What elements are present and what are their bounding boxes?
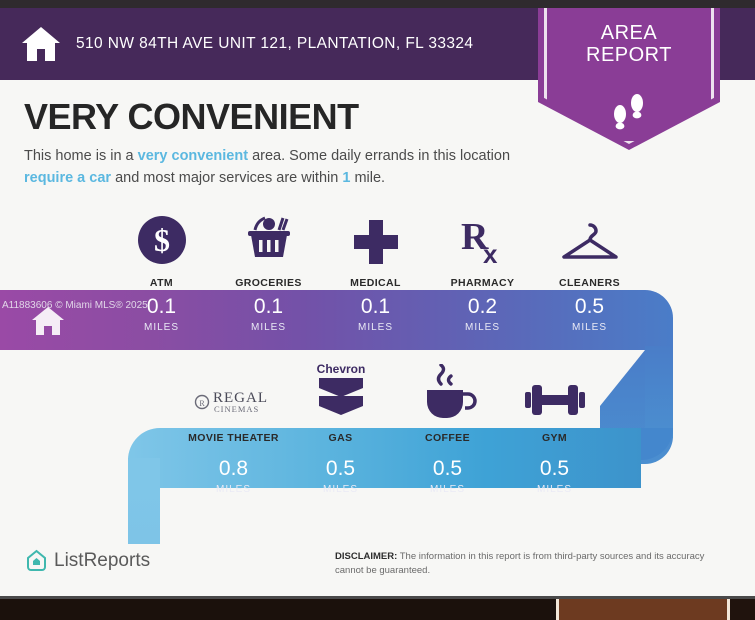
amenity-cleaners: CLEANERS bbox=[536, 205, 643, 289]
distance-unit: MILES bbox=[108, 322, 215, 333]
amenity-movie-theater: R REGAL CINEMAS MOVIE THEATER bbox=[180, 360, 287, 444]
area-report-page: 510 NW 84TH AVE UNIT 121, PLANTATION, FL… bbox=[0, 0, 755, 620]
distance-unit: MILES bbox=[501, 484, 608, 495]
amenity-row-primary: $ ATM bbox=[108, 205, 643, 289]
property-address: 510 NW 84TH AVE UNIT 121, PLANTATION, FL… bbox=[76, 35, 473, 53]
listreports-wordmark: ListReports bbox=[54, 550, 150, 572]
distance-value: 0.2 bbox=[429, 296, 536, 317]
bottom-photo-strip bbox=[0, 596, 755, 620]
distance-unit: MILES bbox=[536, 322, 643, 333]
distance-gym: 0.5 MILES bbox=[501, 458, 608, 495]
distance-coffee: 0.5 MILES bbox=[394, 458, 501, 495]
footer: ListReports DISCLAIMER: The information … bbox=[0, 545, 755, 595]
amenity-label: COFFEE bbox=[394, 432, 501, 444]
amenity-label: MEDICAL bbox=[322, 277, 429, 289]
area-report-badge: AREA REPORT bbox=[538, 0, 720, 150]
distance-value: 0.1 bbox=[215, 296, 322, 317]
distance-movie-theater: 0.8 MILES bbox=[180, 458, 287, 495]
page-title: VERY CONVENIENT bbox=[24, 96, 359, 138]
amenity-label: MOVIE THEATER bbox=[180, 432, 287, 444]
distance-value: 0.5 bbox=[287, 458, 394, 479]
disclaimer-label: DISCLAIMER: bbox=[335, 551, 397, 562]
page-description: This home is in a very convenient area. … bbox=[24, 146, 544, 190]
grocery-basket-icon bbox=[215, 205, 322, 267]
amenity-label: GAS bbox=[287, 432, 394, 444]
distance-unit: MILES bbox=[180, 484, 287, 495]
amenity-label: ATM bbox=[108, 277, 215, 289]
distance-unit: MILES bbox=[394, 484, 501, 495]
distance-groceries: 0.1 MILES bbox=[215, 296, 322, 333]
house-icon bbox=[20, 25, 62, 63]
footprints-icon bbox=[538, 92, 720, 137]
svg-text:R: R bbox=[199, 399, 205, 408]
rx-icon: R x bbox=[429, 205, 536, 267]
svg-text:$: $ bbox=[154, 222, 170, 258]
svg-text:Chevron: Chevron bbox=[316, 362, 365, 376]
amenity-label: CLEANERS bbox=[536, 277, 643, 289]
regal-cinemas-logo-icon: R REGAL CINEMAS bbox=[180, 360, 287, 422]
clothes-hanger-icon bbox=[536, 205, 643, 267]
coffee-cup-icon bbox=[394, 360, 501, 422]
amenity-label: GYM bbox=[501, 432, 608, 444]
desc-part-3: and most major services are within bbox=[111, 170, 342, 186]
strip-segment bbox=[559, 599, 727, 620]
amenity-coffee: COFFEE bbox=[394, 360, 501, 444]
disclaimer: DISCLAIMER: The information in this repo… bbox=[335, 550, 735, 578]
distance-unit: MILES bbox=[429, 322, 536, 333]
amenity-gym: GYM bbox=[501, 360, 608, 444]
distance-medical: 0.1 MILES bbox=[322, 296, 429, 333]
amenity-label: PHARMACY bbox=[429, 277, 536, 289]
svg-text:CINEMAS: CINEMAS bbox=[214, 404, 259, 414]
amenity-groceries: GROCERIES bbox=[215, 205, 322, 289]
distance-value: 0.5 bbox=[536, 296, 643, 317]
listreports-house-icon bbox=[26, 549, 47, 572]
distance-row-primary: 0.1 MILES 0.1 MILES 0.1 MILES 0.2 MILES … bbox=[108, 296, 643, 333]
dumbbell-icon bbox=[501, 360, 608, 422]
desc-part-2: area. Some daily errands in this locatio… bbox=[248, 148, 510, 164]
distance-gas: 0.5 MILES bbox=[287, 458, 394, 495]
listreports-logo: ListReports bbox=[26, 549, 150, 572]
medical-cross-icon bbox=[322, 205, 429, 267]
amenity-medical: MEDICAL bbox=[322, 205, 429, 289]
amenity-row-secondary: R REGAL CINEMAS MOVIE THEATER Chevron GA… bbox=[180, 360, 608, 444]
desc-part-4: mile. bbox=[350, 170, 385, 186]
amenity-atm: $ ATM bbox=[108, 205, 215, 289]
distance-value: 0.5 bbox=[501, 458, 608, 479]
badge-line-2: REPORT bbox=[538, 44, 720, 66]
distance-value: 0.5 bbox=[394, 458, 501, 479]
desc-highlight-2: require a car bbox=[24, 170, 111, 186]
badge-line-1: AREA bbox=[538, 22, 720, 44]
chevron-logo-icon: Chevron bbox=[287, 360, 394, 422]
svg-text:x: x bbox=[483, 239, 498, 267]
mls-watermark: A11883606 © Miami MLS® 2025 bbox=[2, 300, 148, 311]
distance-unit: MILES bbox=[322, 322, 429, 333]
dollar-circle-icon: $ bbox=[108, 205, 215, 267]
distance-cleaners: 0.5 MILES bbox=[536, 296, 643, 333]
badge-title: AREA REPORT bbox=[538, 22, 720, 67]
distance-value: 0.8 bbox=[180, 458, 287, 479]
distance-unit: MILES bbox=[215, 322, 322, 333]
desc-part-1: This home is in a bbox=[24, 148, 138, 164]
distance-row-secondary: 0.8 MILES 0.5 MILES 0.5 MILES 0.5 MILES bbox=[180, 458, 608, 495]
desc-highlight-1: very convenient bbox=[138, 148, 248, 164]
amenity-pharmacy: R x PHARMACY bbox=[429, 205, 536, 289]
distance-value: 0.1 bbox=[322, 296, 429, 317]
distance-pharmacy: 0.2 MILES bbox=[429, 296, 536, 333]
strip-segment bbox=[730, 599, 755, 620]
distance-unit: MILES bbox=[287, 484, 394, 495]
top-dark-strip bbox=[0, 0, 755, 8]
amenity-gas: Chevron GAS bbox=[287, 360, 394, 444]
amenity-label: GROCERIES bbox=[215, 277, 322, 289]
